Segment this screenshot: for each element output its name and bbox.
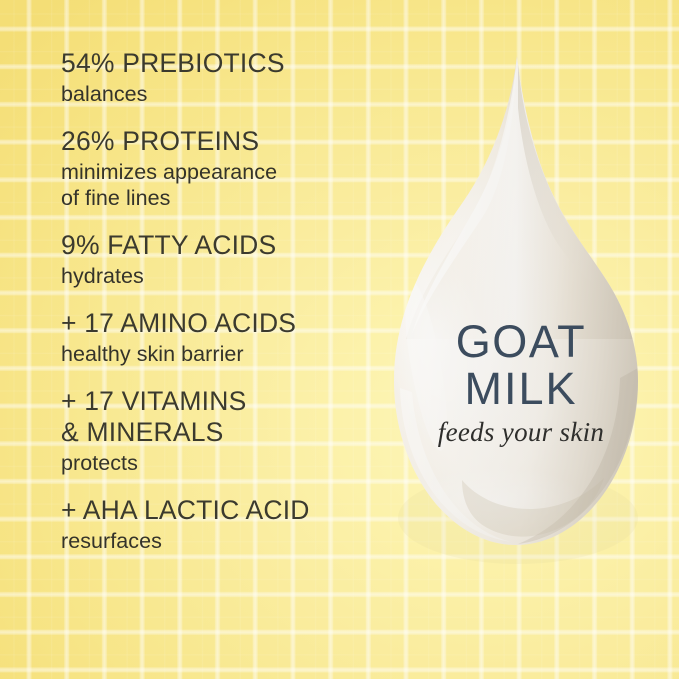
- droplet-icon: [366, 48, 666, 568]
- list-item: 26% PROTEINS minimizes appearance of fin…: [61, 126, 381, 211]
- ingredient-title: 54% PREBIOTICS: [61, 48, 381, 79]
- ingredient-list: 54% PREBIOTICS balances 26% PROTEINS min…: [61, 48, 381, 554]
- list-item: + AHA LACTIC ACID resurfaces: [61, 495, 381, 554]
- ingredient-benefit: balances: [61, 81, 381, 107]
- ingredient-benefit: hydrates: [61, 263, 381, 289]
- ingredient-title: + 17 AMINO ACIDS: [61, 308, 381, 339]
- list-item: + 17 AMINO ACIDS healthy skin barrier: [61, 308, 381, 367]
- ingredient-title: + 17 VITAMINS & MINERALS: [61, 386, 381, 448]
- ingredient-benefit: protects: [61, 450, 381, 476]
- list-item: 9% FATTY ACIDS hydrates: [61, 230, 381, 289]
- ingredient-title: 9% FATTY ACIDS: [61, 230, 381, 261]
- list-item: + 17 VITAMINS & MINERALS protects: [61, 386, 381, 476]
- ingredient-title: 26% PROTEINS: [61, 126, 381, 157]
- droplet-rim-shade: [366, 48, 666, 568]
- ingredient-benefit: resurfaces: [61, 528, 381, 554]
- milk-droplet-illustration: [366, 48, 666, 568]
- ingredient-title: + AHA LACTIC ACID: [61, 495, 381, 526]
- list-item: 54% PREBIOTICS balances: [61, 48, 381, 107]
- infographic-canvas: 54% PREBIOTICS balances 26% PROTEINS min…: [0, 0, 679, 679]
- ingredient-benefit: healthy skin barrier: [61, 341, 381, 367]
- ingredient-benefit: minimizes appearance of fine lines: [61, 159, 381, 211]
